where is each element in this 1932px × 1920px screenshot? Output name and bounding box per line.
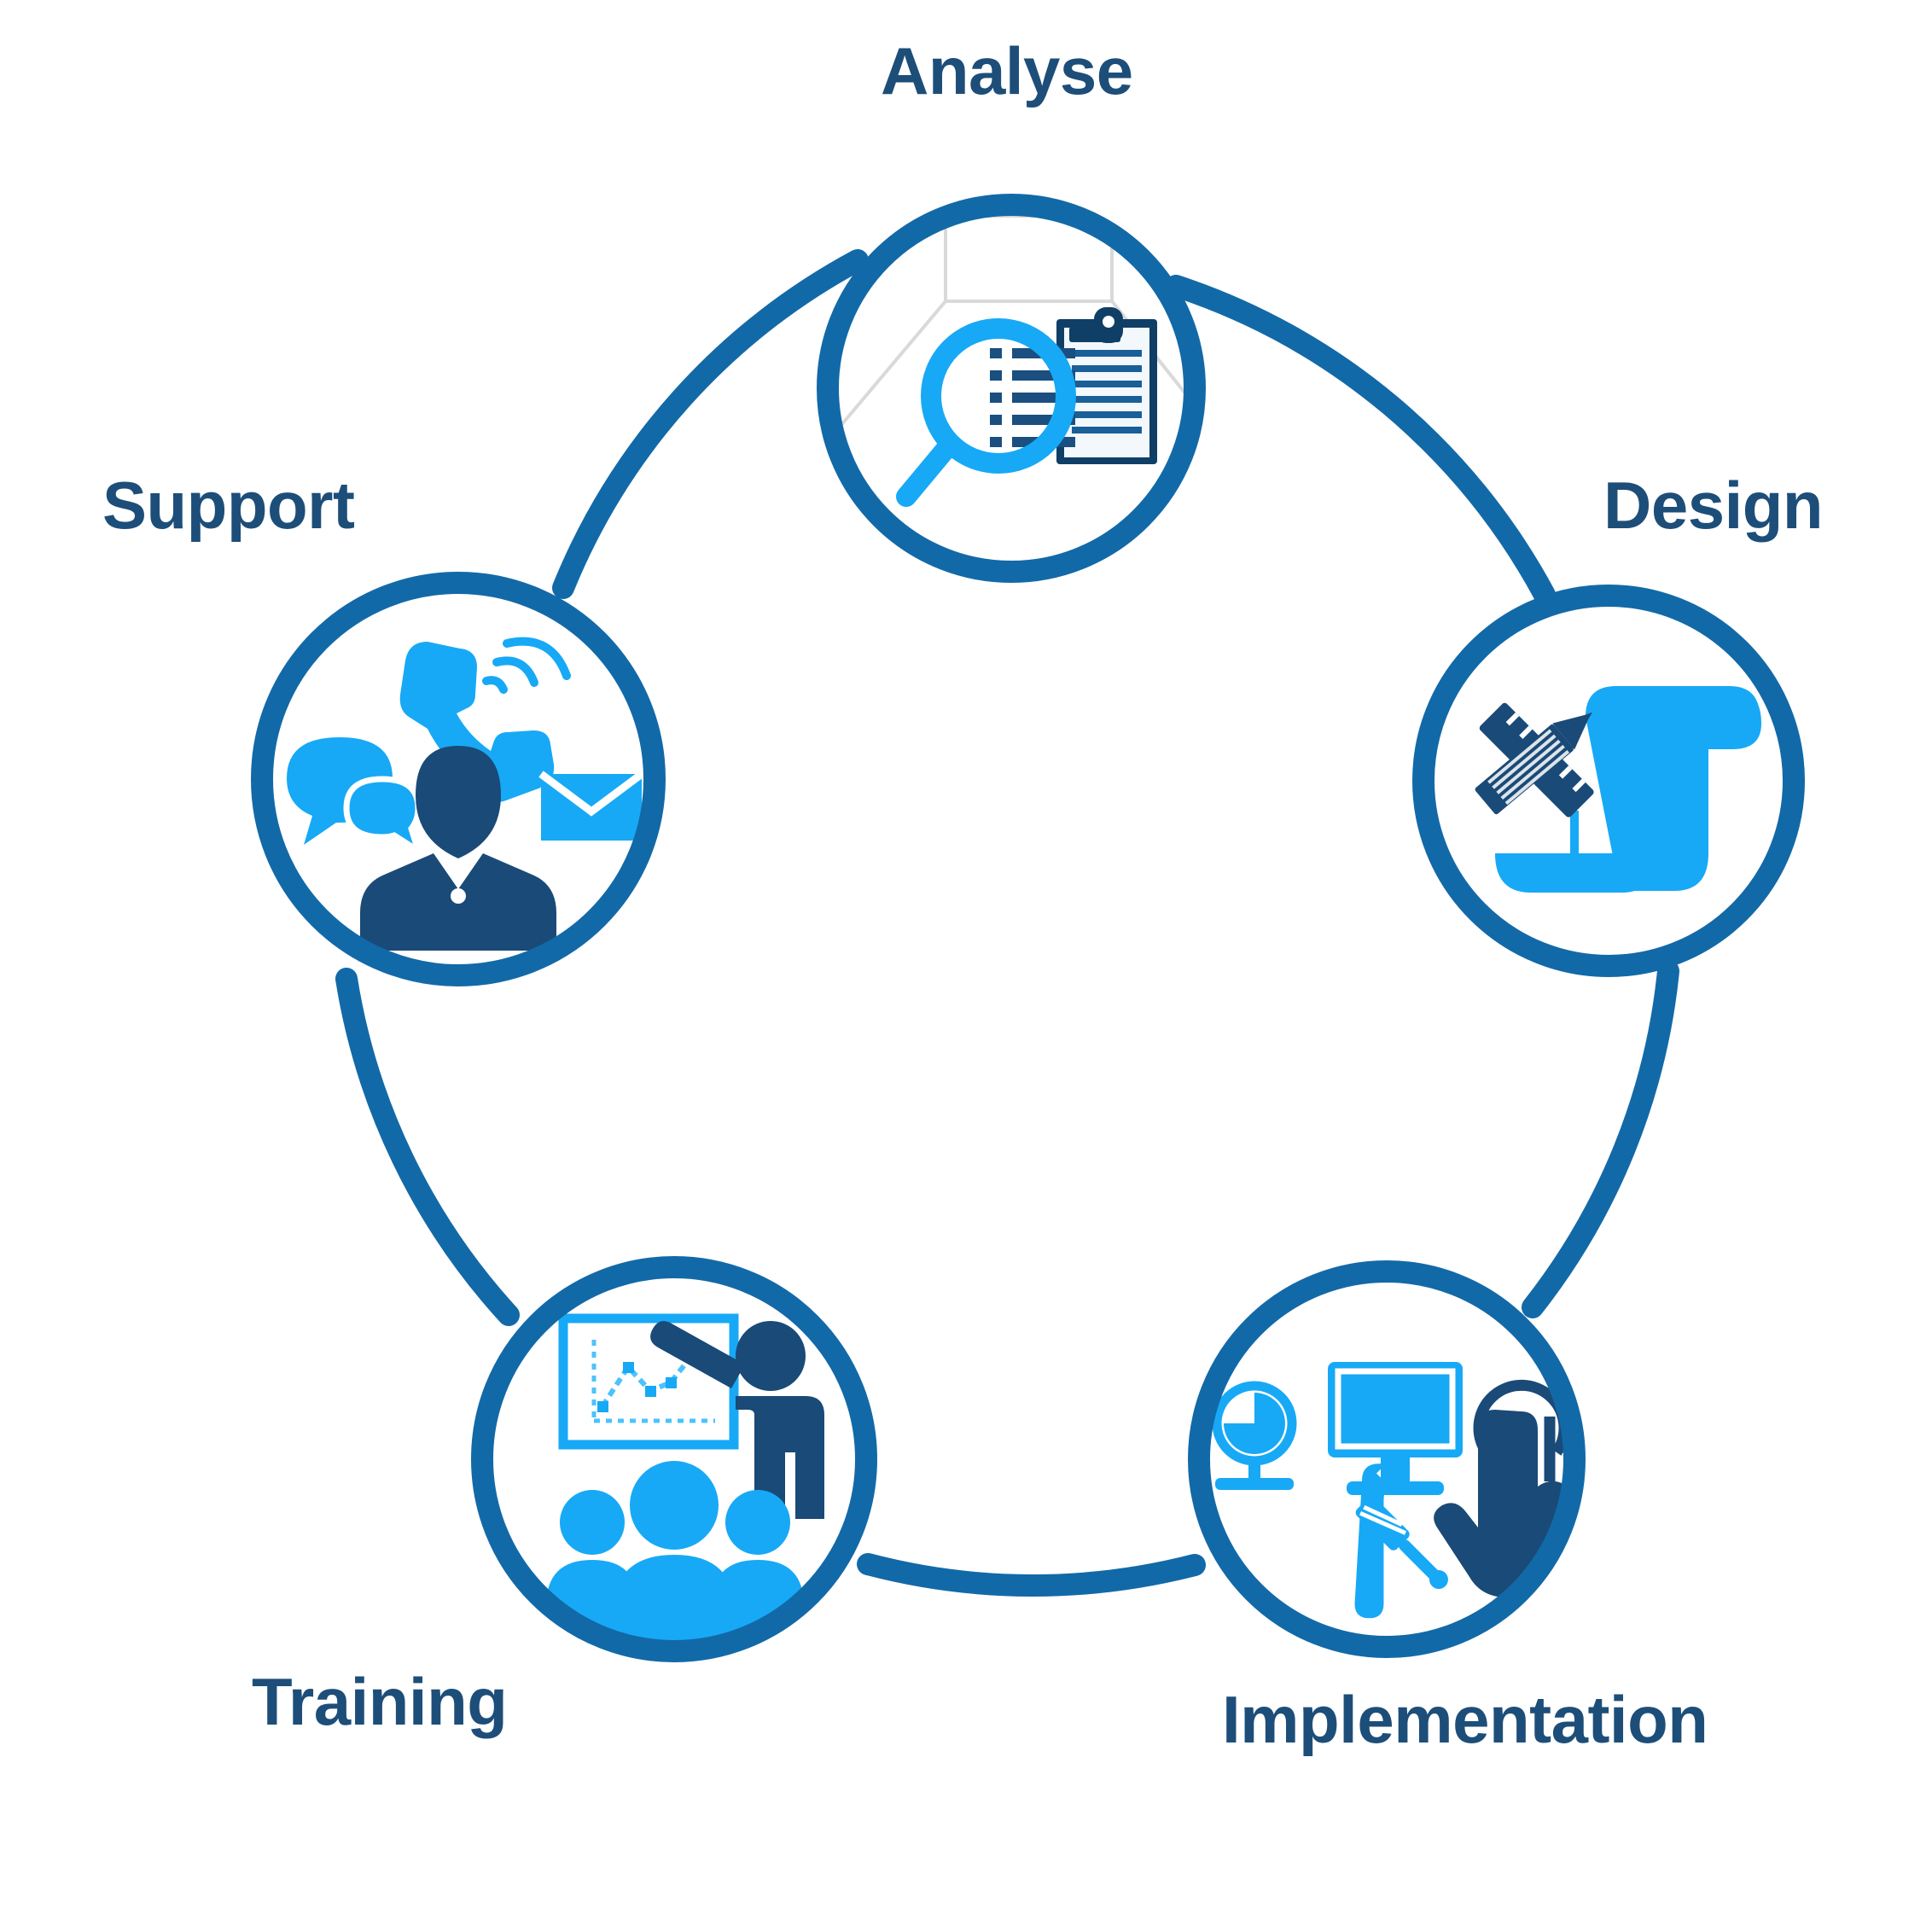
node-analyse[interactable]: [828, 205, 1212, 572]
node-label-analyse: Analyse: [881, 38, 1133, 104]
node-label-support: Support: [102, 472, 354, 538]
node-label-implementation: Implementation: [1222, 1686, 1708, 1753]
node-implementation[interactable]: [1199, 1271, 1586, 1647]
connector-implementation-to-training: [868, 1564, 1195, 1585]
connector-design-to-implementation: [1533, 971, 1668, 1307]
node-design[interactable]: [1423, 596, 1794, 966]
connector-training-to-support: [346, 979, 509, 1315]
presentation-board-icon: [563, 1318, 734, 1445]
node-label-training: Training: [252, 1668, 507, 1735]
connector-support-to-analyse: [563, 260, 858, 588]
node-support[interactable]: [262, 583, 655, 975]
diagram-canvas: Analyse Design Implementation Training S…: [0, 0, 1932, 1920]
connector-analyse-to-design: [1176, 286, 1545, 595]
node-training[interactable]: [482, 1267, 866, 1664]
cycle-diagram-svg: [0, 0, 1932, 1920]
envelope-icon: [541, 774, 642, 841]
node-label-design: Design: [1603, 472, 1823, 538]
